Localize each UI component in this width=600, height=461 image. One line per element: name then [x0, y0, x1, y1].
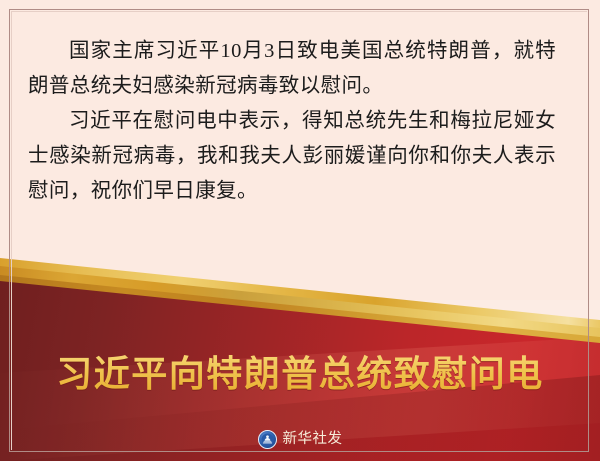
credit-line: 新华社发: [0, 430, 600, 449]
article-paragraph-1: 国家主席习近平10月3日致电美国总统特朗普，就特朗普总统夫妇感染新冠病毒致以慰问…: [28, 34, 556, 104]
credit-text: 新华社发: [283, 430, 343, 449]
xinhua-logo-icon: [258, 430, 277, 449]
article-body: 国家主席习近平10月3日致电美国总统特朗普，就特朗普总统夫妇感染新冠病毒致以慰问…: [28, 34, 556, 209]
banner-headline: 习近平向特朗普总统致慰问电: [0, 352, 600, 396]
article-paragraph-2: 习近平在慰问电中表示，得知总统先生和梅拉尼娅女士感染新冠病毒，我和我夫人彭丽媛谨…: [28, 104, 556, 209]
news-poster: 国家主席习近平10月3日致电美国总统特朗普，就特朗普总统夫妇感染新冠病毒致以慰问…: [0, 0, 600, 461]
